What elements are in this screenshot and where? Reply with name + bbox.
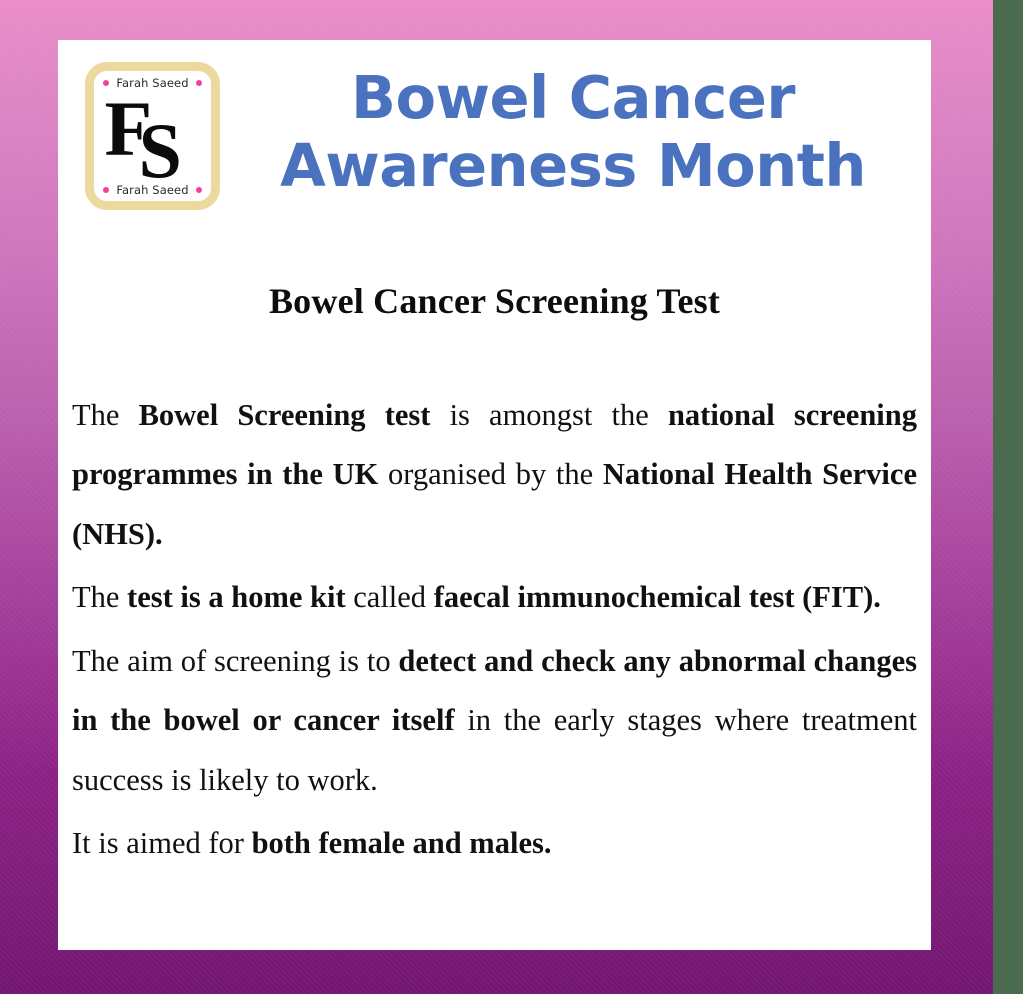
- paragraph-4: It is aimed for both female and males.: [72, 814, 917, 873]
- brand-logo: Farah Saeed F S Farah Saeed: [85, 62, 220, 210]
- p4-run-2: both female and males.: [252, 826, 552, 860]
- page-title-line-2: Awareness Month: [233, 132, 913, 200]
- pink-dot-icon: [103, 187, 109, 193]
- p2-run-3: called: [346, 580, 434, 614]
- p2-run-4: faecal immunochemical test (FIT).: [434, 580, 881, 614]
- monogram-letter-f: F: [105, 90, 153, 168]
- pink-dot-icon: [196, 80, 202, 86]
- p3-run-1: The aim of screening is to: [72, 644, 398, 678]
- logo-monogram: F S: [101, 94, 205, 180]
- page-subtitle: Bowel Cancer Screening Test: [58, 280, 931, 322]
- p2-run-1: The: [72, 580, 127, 614]
- paragraph-1: The Bowel Screening test is amongst the …: [72, 386, 917, 564]
- p1-run-3: is amongst the: [430, 398, 668, 432]
- content-card: Farah Saeed F S Farah Saeed Bowel Cancer…: [58, 40, 931, 950]
- body-copy: The Bowel Screening test is amongst the …: [72, 386, 917, 874]
- p1-run-1: The: [72, 398, 139, 432]
- paragraph-2: The test is a home kit called faecal imm…: [72, 568, 917, 627]
- p2-run-2: test is a home kit: [127, 580, 346, 614]
- page-title: Bowel Cancer Awareness Month: [233, 64, 913, 200]
- p1-run-5: organised by the: [378, 457, 603, 491]
- p4-run-1: It is aimed for: [72, 826, 252, 860]
- pink-dot-icon: [196, 187, 202, 193]
- p1-run-2: Bowel Screening test: [139, 398, 431, 432]
- paragraph-3: The aim of screening is to detect and ch…: [72, 632, 917, 810]
- poster-root: Farah Saeed F S Farah Saeed Bowel Cancer…: [0, 0, 1023, 994]
- poster-header: Farah Saeed F S Farah Saeed Bowel Cancer…: [58, 40, 931, 258]
- page-title-line-1: Bowel Cancer: [233, 64, 913, 132]
- right-edge-strip: [993, 0, 1023, 994]
